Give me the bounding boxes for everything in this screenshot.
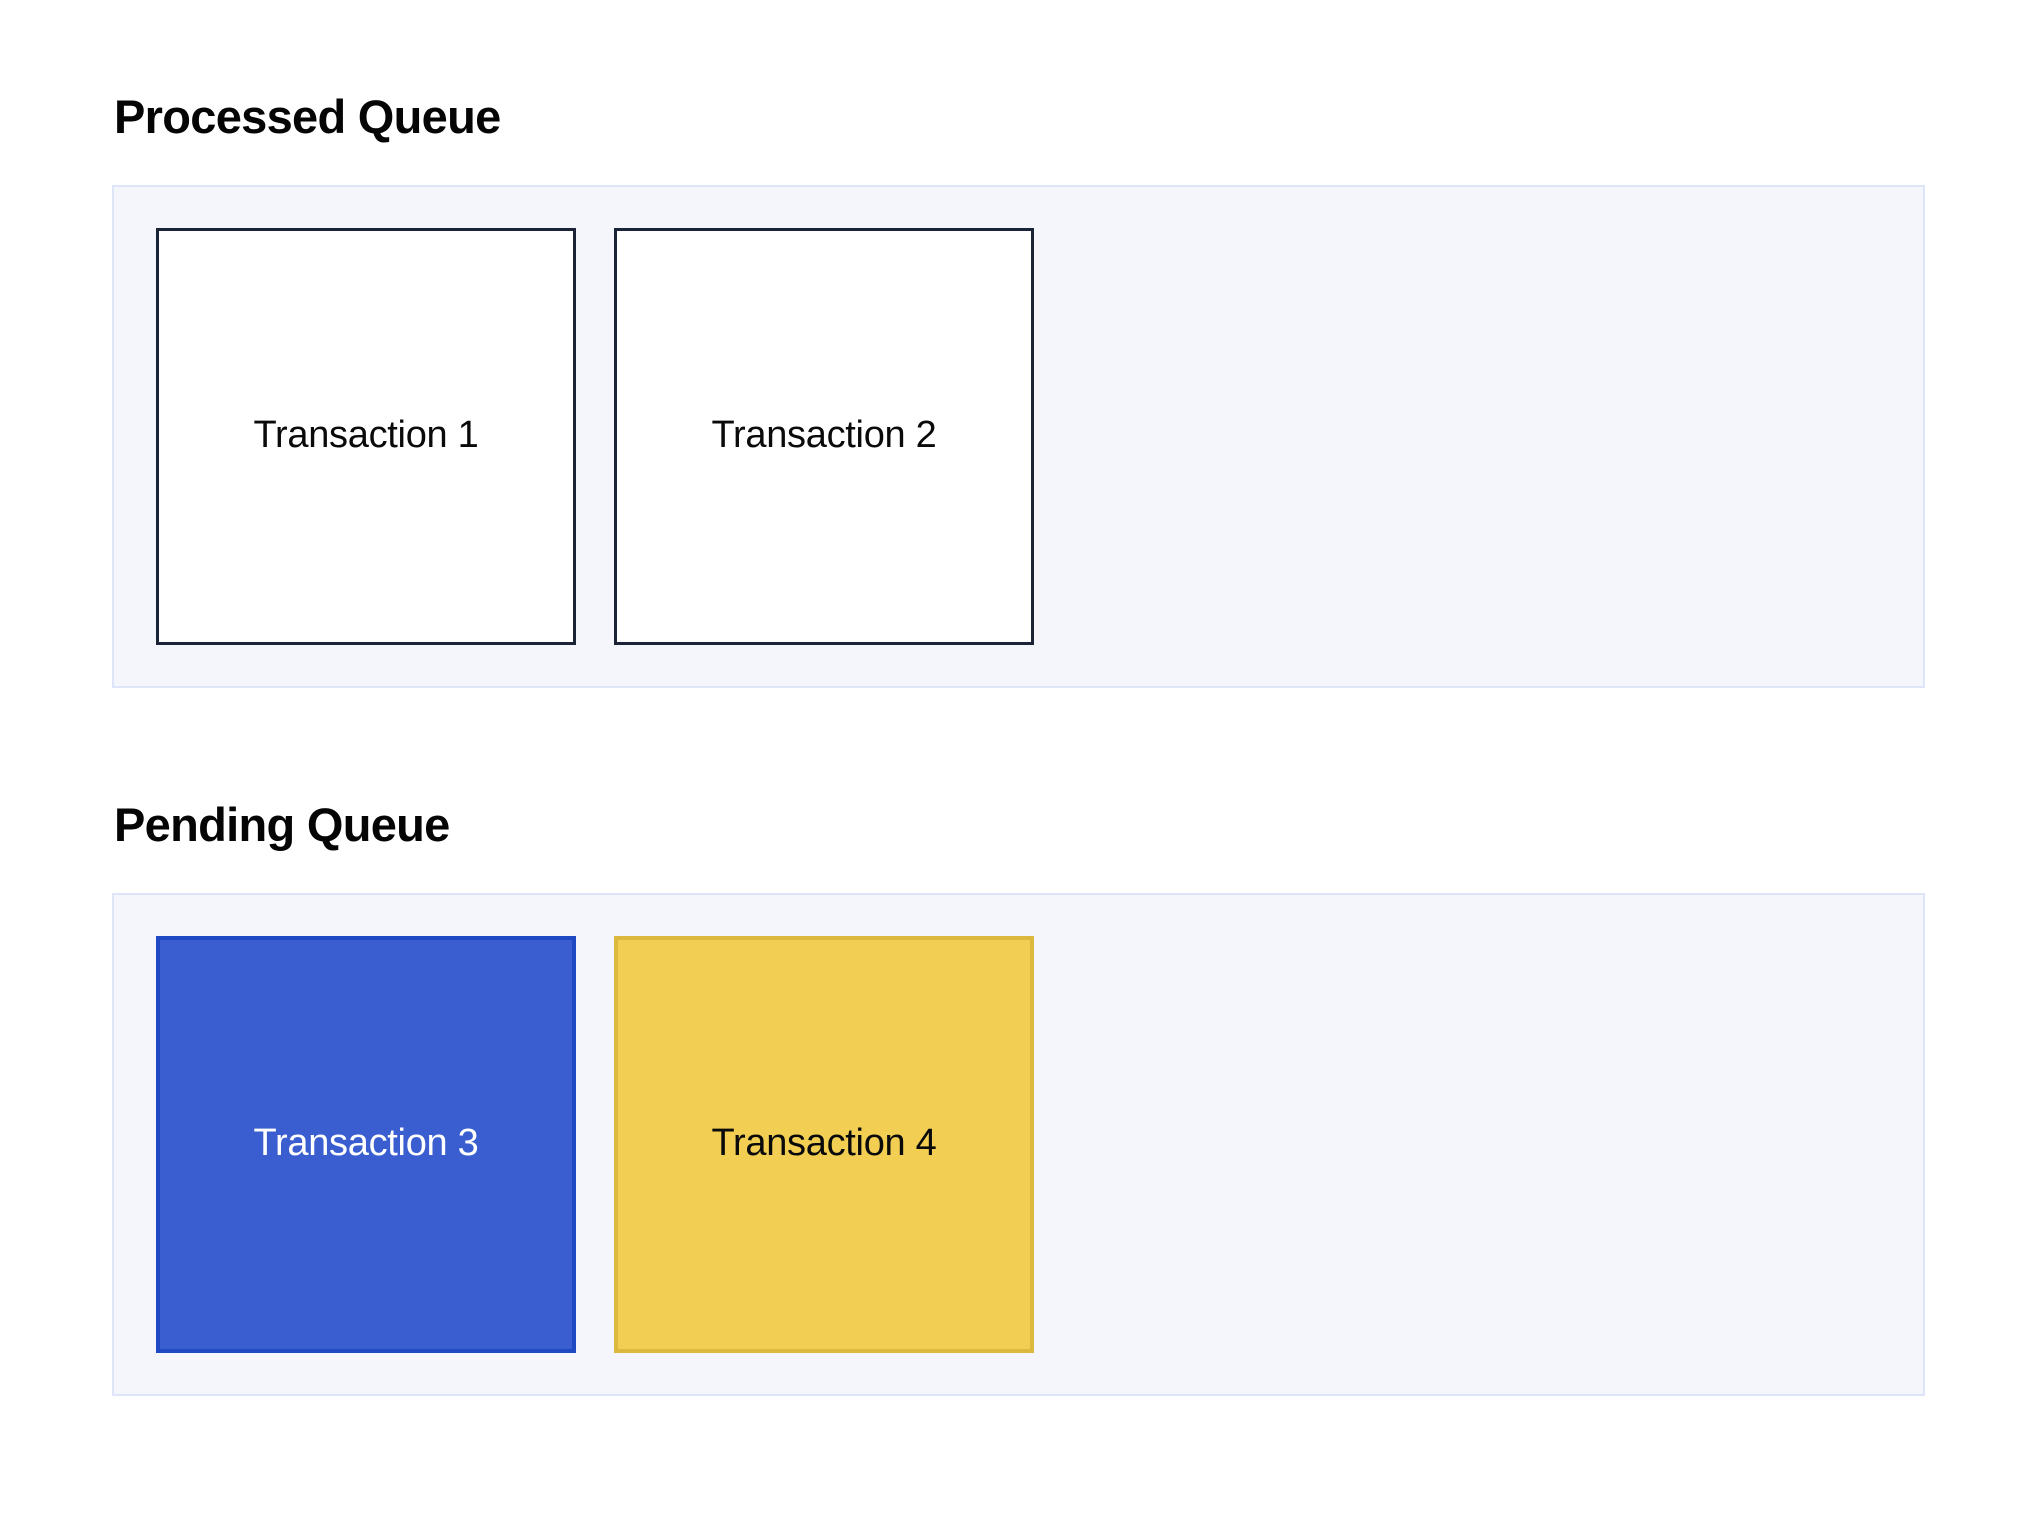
transaction-card-1[interactable]: Transaction 1 [156,228,576,645]
transaction-card-2[interactable]: Transaction 2 [614,228,1034,645]
transaction-card-2-label: Transaction 2 [712,413,937,459]
transaction-card-4[interactable]: Transaction 4 [614,936,1034,1353]
processed-queue-section: Processed Queue Transaction 1 Transactio… [112,92,1925,688]
queue-board: Processed Queue Transaction 1 Transactio… [0,0,2036,1532]
transaction-card-4-label: Transaction 4 [712,1121,937,1167]
processed-queue-title: Processed Queue [114,92,1925,143]
pending-queue-container: Transaction 3 Transaction 4 [112,893,1925,1396]
pending-queue-section: Pending Queue Transaction 3 Transaction … [112,800,1925,1396]
transaction-card-1-label: Transaction 1 [254,413,479,459]
transaction-card-3-label: Transaction 3 [254,1121,479,1167]
pending-queue-title: Pending Queue [114,800,1925,851]
transaction-card-3[interactable]: Transaction 3 [156,936,576,1353]
processed-queue-container: Transaction 1 Transaction 2 [112,185,1925,688]
